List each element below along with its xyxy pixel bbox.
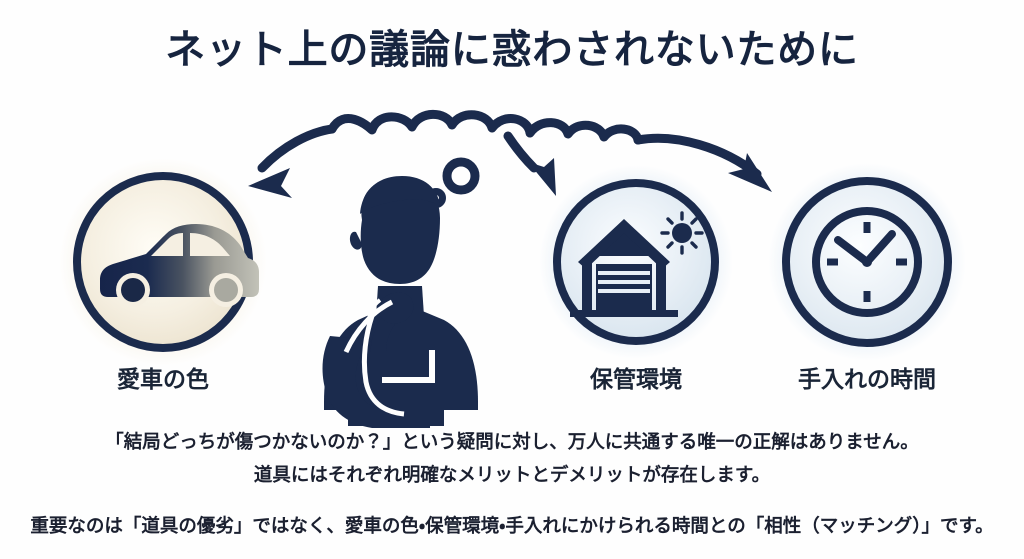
clock-icon	[816, 211, 918, 313]
arrow-to-garage-head	[528, 158, 556, 196]
body-text-line-2: 道具にはそれぞれ明確なメリットとデメリットが存在します。	[0, 461, 1024, 487]
cloud-top-edge	[332, 114, 638, 140]
sun-icon	[672, 223, 692, 243]
clock-center-pin	[862, 257, 872, 267]
cloud-thought-bubble	[262, 114, 757, 174]
body-text-line-1: 「結局どっちが傷つかないのか？」という疑問に対し、万人に共通する唯一の正解はあり…	[0, 428, 1024, 454]
thought-bubble-large-dot	[447, 162, 475, 190]
label-storage-environment: 保管環境	[536, 367, 736, 392]
label-maintenance-time: 手入れの時間	[767, 367, 967, 392]
arrow-to-car-head	[248, 168, 292, 198]
thinking-person-silhouette	[323, 176, 478, 428]
infographic-slide: ネット上の議論に惑わされないために	[0, 0, 1024, 559]
label-car-color: 愛車の色	[43, 367, 283, 392]
body-text-line-3: 重要なのは「道具の優劣」ではなく、愛車の色・保管環境・手入れにかけられる時間との…	[0, 512, 1024, 538]
factor-circle-maintenance-time[interactable]	[786, 181, 948, 343]
factor-circle-storage-environment[interactable]	[557, 183, 715, 341]
cloud-left-tail	[262, 129, 332, 168]
